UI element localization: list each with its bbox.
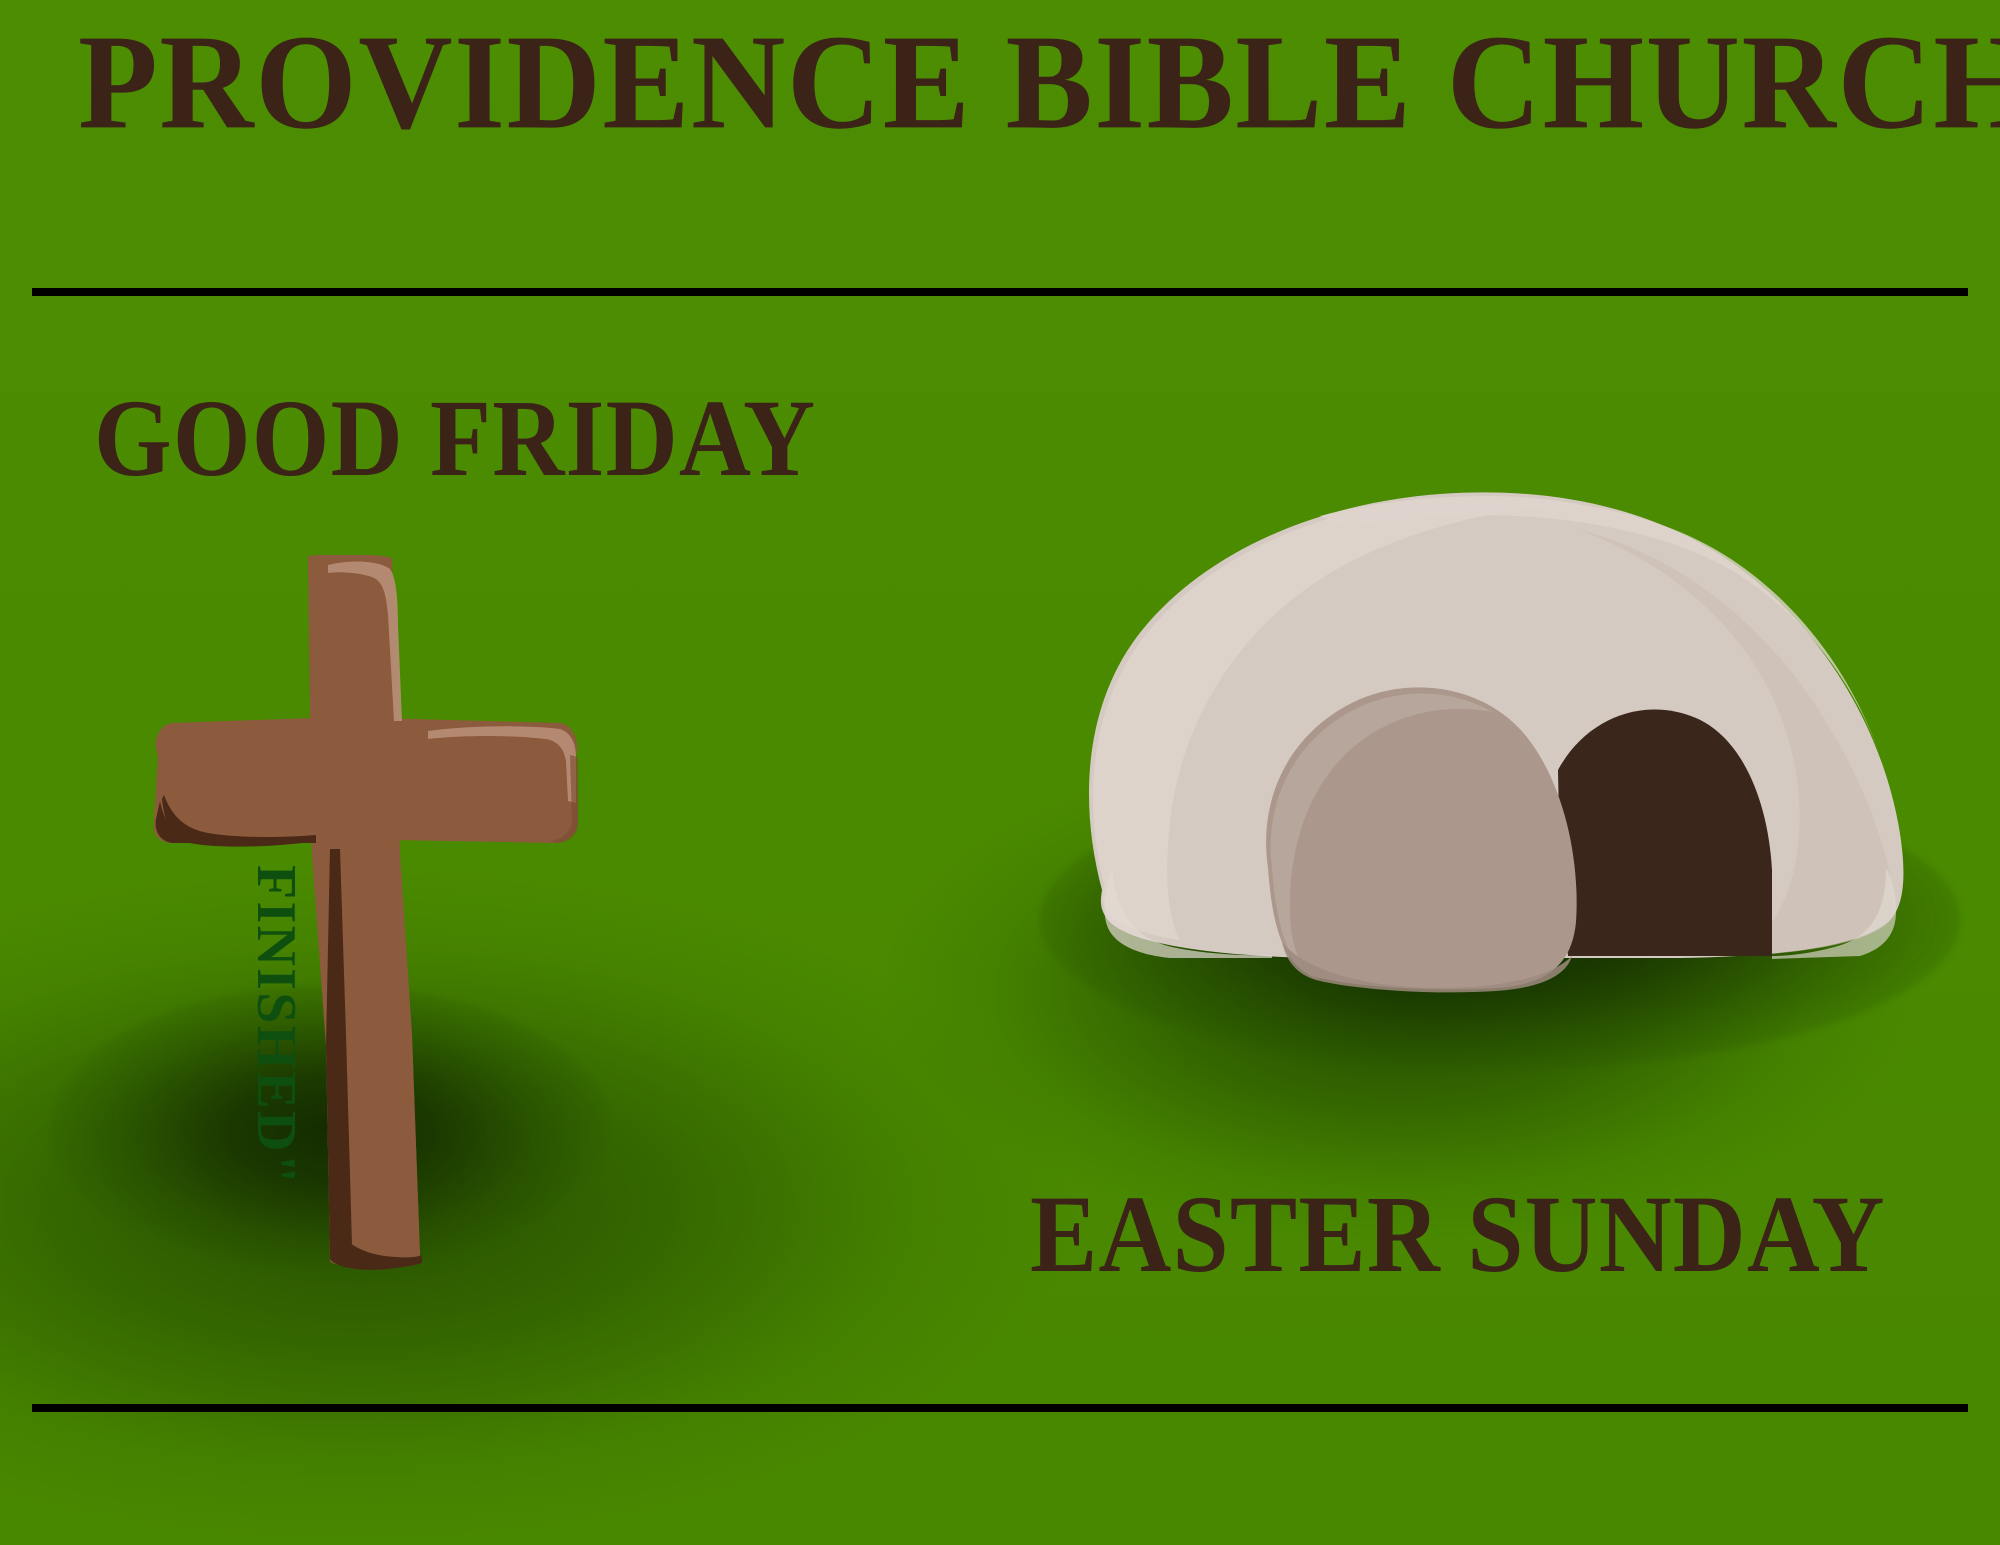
easter-sunday-heading: EASTER SUNDAY	[1030, 1180, 1886, 1290]
good-friday-heading: GOOD FRIDAY	[94, 384, 816, 494]
divider-rule-top	[32, 288, 1968, 296]
easter-announcement-poster: PROVIDENCE BIBLE CHURCH GOOD FRIDAY	[0, 0, 2000, 1545]
cross-illustration: FINISHED"	[40, 555, 660, 1315]
page-title: PROVIDENCE BIBLE CHURCH	[78, 14, 2000, 150]
empty-tomb-icon	[1020, 470, 1980, 1030]
tomb-illustration	[1020, 470, 1980, 1030]
wooden-cross-icon	[40, 555, 660, 1315]
cross-inscription-finished: FINISHED"	[248, 865, 304, 1187]
divider-rule-bottom	[32, 1404, 1968, 1412]
